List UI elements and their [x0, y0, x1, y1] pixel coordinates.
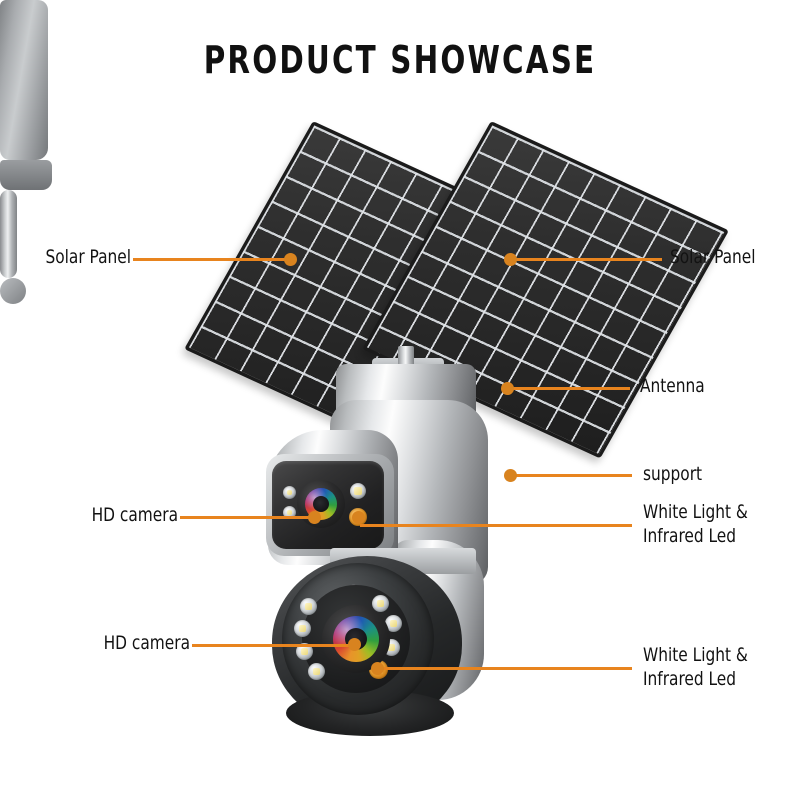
leader-line-solar-panel-left	[133, 258, 293, 261]
page-title: PRODUCT SHOWCASE	[56, 38, 744, 82]
led-white-upper-right-1	[350, 483, 366, 499]
callout-label-solar-panel-right: Solar Panel	[670, 245, 785, 269]
marker-dot-led-top	[352, 511, 365, 524]
callout-label-hd-camera-bottom: HD camera	[19, 631, 190, 655]
led-white-dome-left-1	[300, 598, 317, 615]
led-white-dome-left-4	[308, 663, 325, 680]
support-bracket-plate	[0, 0, 48, 160]
led-white-dome-right-1	[372, 595, 389, 612]
leader-line-hd-camera-top	[180, 516, 313, 519]
callout-label-hd-camera-top: HD camera	[18, 503, 178, 527]
upper-camera-lens-pupil	[313, 496, 329, 512]
callout-label-led-top: White Light & Infrared Led	[643, 500, 783, 548]
marker-dot-led-bottom	[371, 662, 384, 675]
leader-line-support	[511, 474, 632, 477]
marker-dot-solar-panel-right	[504, 253, 517, 266]
callout-label-solar-panel-left: Solar Panel	[13, 245, 131, 269]
leader-line-led-top	[360, 524, 632, 527]
leader-line-led-bottom	[380, 667, 632, 670]
marker-dot-hd-camera-bottom	[348, 638, 361, 651]
marker-dot-hd-camera-top	[308, 511, 321, 524]
callout-label-led-bottom: White Light & Infrared Led	[643, 643, 783, 691]
marker-dot-solar-panel-left	[284, 253, 297, 266]
marker-dot-support	[504, 469, 517, 482]
callout-label-support: support	[643, 462, 778, 486]
led-white-upper-left-1	[283, 486, 296, 499]
callout-label-antenna: Antenna	[640, 374, 775, 398]
led-white-dome-left-2	[294, 620, 311, 637]
leader-line-antenna	[508, 387, 630, 390]
product-showcase-canvas: PRODUCT SHOWCASE	[0, 0, 800, 786]
marker-dot-antenna	[501, 382, 514, 395]
antenna-hinge	[0, 278, 26, 304]
support-bracket-foot	[0, 160, 52, 190]
leader-line-solar-panel-right	[510, 258, 662, 261]
leader-line-hd-camera-bottom	[192, 644, 356, 647]
